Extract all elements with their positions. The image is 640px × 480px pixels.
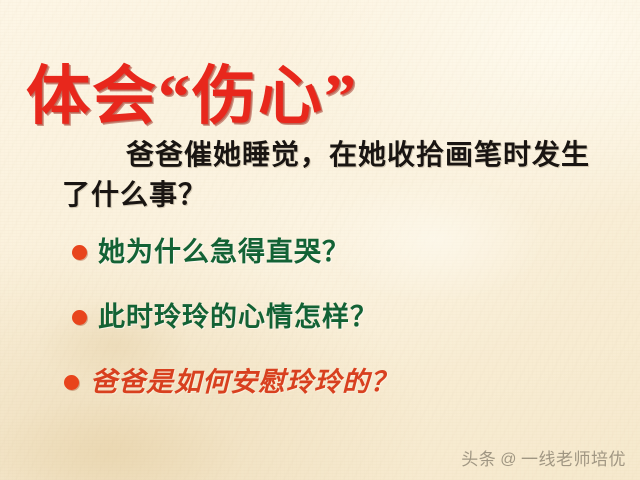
bullet-dot-icon <box>72 310 87 325</box>
list-item: 此时玲玲的心情怎样？ <box>0 297 640 337</box>
bullet-dot-icon <box>64 375 79 390</box>
watermark-account: 一线老师培优 <box>521 450 626 470</box>
slide-canvas: 体会“伤心” 爸爸催她睡觉，在她收拾画笔时发生了什么事？ 她为什么急得直哭？ 此… <box>0 0 640 480</box>
question-list: 她为什么急得直哭？ 此时玲玲的心情怎样？ 爸爸是如何安慰玲玲的？ <box>0 232 640 427</box>
list-item: 她为什么急得直哭？ <box>0 232 640 272</box>
question-text-1: 她为什么急得直哭？ <box>98 235 350 269</box>
at-sign-icon: @ <box>500 450 517 470</box>
bullet-dot-icon <box>72 245 87 260</box>
slide-title: 体会“伤心” <box>26 59 358 135</box>
slide-paragraph: 爸爸催她睡觉，在她收拾画笔时发生了什么事？ <box>62 136 592 216</box>
list-item: 爸爸是如何安慰玲玲的？ <box>0 362 640 402</box>
question-text-2: 此时玲玲的心情怎样？ <box>98 300 378 334</box>
watermark: 头条 @ 一线老师培优 <box>461 450 626 470</box>
question-text-3: 爸爸是如何安慰玲玲的？ <box>90 365 398 399</box>
watermark-source: 头条 <box>461 450 496 470</box>
